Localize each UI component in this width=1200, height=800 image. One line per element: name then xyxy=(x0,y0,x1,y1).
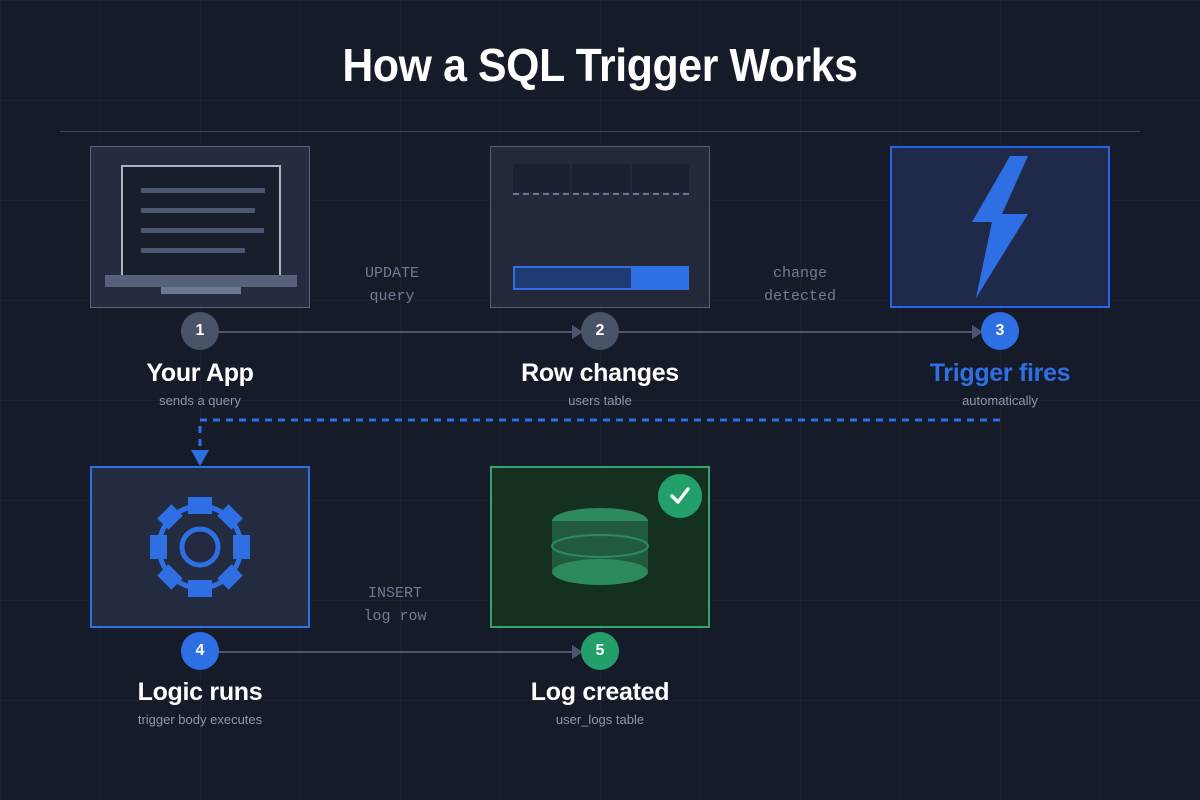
table-header-cell xyxy=(513,164,570,192)
edge-label-line-1: INSERT xyxy=(305,582,485,605)
connector-4-5 xyxy=(215,651,585,653)
edge-label-line-2: query xyxy=(302,285,482,308)
lightning-bolt-icon xyxy=(968,156,1032,298)
table-header-separator xyxy=(513,193,689,195)
edge-label-line-1: change xyxy=(710,262,890,285)
step-badge-4: 4 xyxy=(181,632,219,670)
edge-label-line-2: log row xyxy=(305,605,485,628)
table-header-cell xyxy=(632,164,689,192)
edge-label-2-3: change detected xyxy=(710,262,890,309)
step-4-title: Logic runs xyxy=(50,679,350,707)
step-1-subtitle: sends a query xyxy=(50,393,350,409)
laptop-trackpad xyxy=(161,287,241,294)
laptop-base xyxy=(105,275,297,287)
edge-label-line-1: UPDATE xyxy=(302,262,482,285)
infographic-canvas: How a SQL Trigger Works xyxy=(0,0,1200,800)
step-badge-3: 3 xyxy=(981,312,1019,350)
step-2-caption: Row changes users table xyxy=(450,360,750,408)
step-4-panel xyxy=(90,466,310,628)
step-5-subtitle: user_logs table xyxy=(450,712,750,728)
feedback-path-3-to-4 xyxy=(180,412,1020,472)
database-check-icon xyxy=(550,508,650,586)
step-3-title: Trigger fires xyxy=(850,360,1150,388)
step-5-caption: Log created user_logs table xyxy=(450,679,750,727)
edge-label-1-2: UPDATE query xyxy=(302,262,482,309)
connector-2-3 xyxy=(615,331,985,333)
step-5-title: Log created xyxy=(450,679,750,707)
step-1-caption: Your App sends a query xyxy=(50,360,350,408)
step-1-panel xyxy=(90,146,310,308)
check-badge xyxy=(658,474,702,518)
table-row-highlight-icon xyxy=(513,266,689,290)
table-header-row xyxy=(513,164,689,192)
step-badge-5: 5 xyxy=(581,632,619,670)
step-3-subtitle: automatically xyxy=(850,393,1150,409)
title-divider xyxy=(60,131,1140,132)
edge-label-4-5: INSERT log row xyxy=(305,582,485,629)
edge-label-line-2: detected xyxy=(710,285,890,308)
step-3-caption: Trigger fires automatically xyxy=(850,360,1150,408)
step-2-panel xyxy=(490,146,710,308)
step-badge-1: 1 xyxy=(181,312,219,350)
code-line xyxy=(141,228,264,233)
step-5-panel xyxy=(490,466,710,628)
page-title: How a SQL Trigger Works xyxy=(42,38,1158,92)
code-line xyxy=(141,248,245,253)
code-line xyxy=(141,188,265,193)
step-1-title: Your App xyxy=(50,360,350,388)
code-line xyxy=(141,208,255,213)
step-2-subtitle: users table xyxy=(450,393,750,409)
row-highlight-fill xyxy=(631,268,687,288)
check-icon xyxy=(668,484,692,508)
step-3-panel xyxy=(890,146,1110,308)
connector-1-2 xyxy=(215,331,585,333)
gear-icon xyxy=(140,487,260,607)
step-4-subtitle: trigger body executes xyxy=(50,712,350,728)
step-4-caption: Logic runs trigger body executes xyxy=(50,679,350,727)
step-2-title: Row changes xyxy=(450,360,750,388)
table-header-cell xyxy=(572,164,629,192)
step-badge-2: 2 xyxy=(581,312,619,350)
laptop-code-icon xyxy=(121,165,281,277)
